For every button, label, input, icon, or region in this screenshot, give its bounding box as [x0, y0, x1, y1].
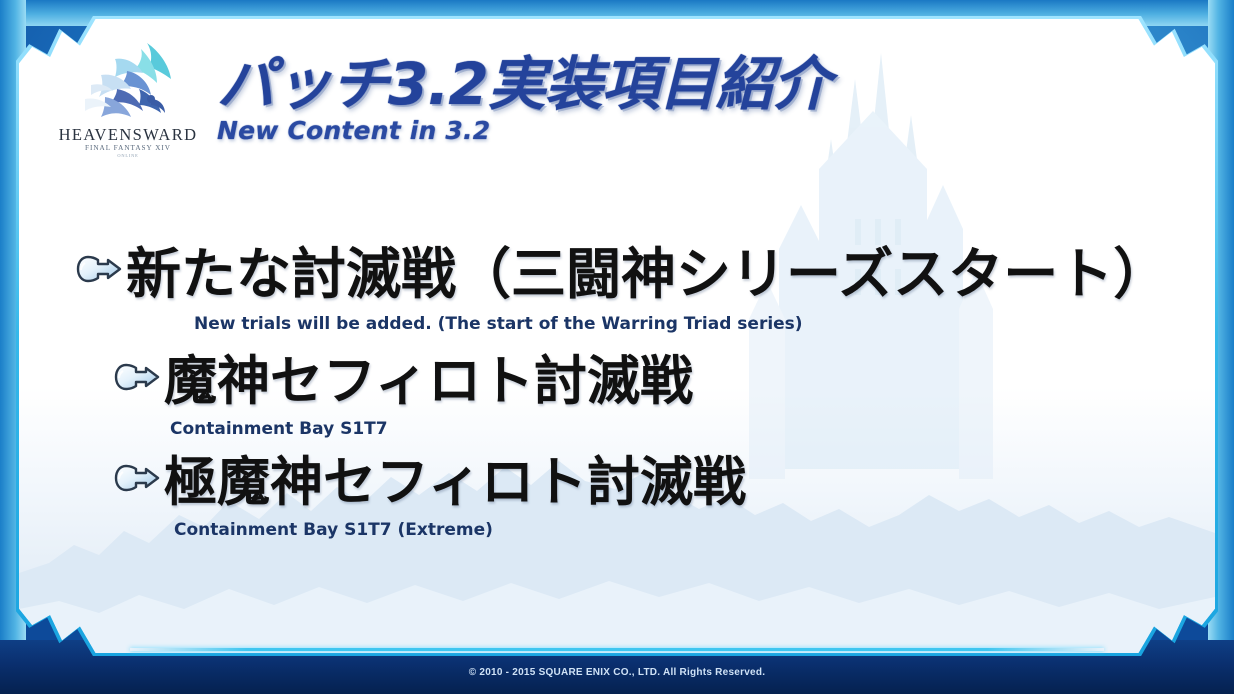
heavensward-logo: HEAVENSWARD FINAL FANTASY XIV ONLINE	[55, 41, 201, 163]
bullet-item: 魔神セフィロト討滅戦 Containment Bay S1T7	[112, 355, 693, 438]
page-title-block: パッチ3.2実装項目紹介 New Content in 3.2	[217, 55, 830, 145]
logo-subtitle-text: FINAL FANTASY XIV	[55, 144, 201, 152]
bullet-en-label: Containment Bay S1T7 (Extreme)	[174, 522, 746, 539]
pointing-hand-icon	[74, 247, 126, 296]
presentation-slide: HEAVENSWARD FINAL FANTASY XIV ONLINE パッチ…	[0, 0, 1234, 694]
bullet-en-label: New trials will be added. (The start of …	[194, 316, 1168, 333]
page-title: パッチ3.2実装項目紹介	[217, 55, 830, 114]
bullet-item: 極魔神セフィロト討滅戦 Containment Bay S1T7 (Extrem…	[112, 456, 746, 539]
logo-title-text: HEAVENSWARD	[55, 125, 201, 145]
logo-subtitle2-text: ONLINE	[55, 153, 201, 158]
bullet-en-label: Containment Bay S1T7	[170, 421, 693, 438]
bullet-jp-label: 魔神セフィロト討滅戦	[164, 355, 693, 408]
footer-bar: © 2010 - 2015 SQUARE ENIX CO., LTD. All …	[0, 650, 1234, 694]
bullet-item: 新たな討滅戦（三闘神シリーズスタート） New trials will be a…	[74, 247, 1168, 333]
bullet-jp-label: 極魔神セフィロト討滅戦	[164, 456, 746, 509]
copyright-text: © 2010 - 2015 SQUARE ENIX CO., LTD. All …	[469, 667, 765, 678]
bullet-text-group: 新たな討滅戦（三闘神シリーズスタート） New trials will be a…	[126, 247, 1168, 333]
bullet-text-group: 魔神セフィロト討滅戦 Containment Bay S1T7	[164, 355, 693, 438]
bullet-jp-label: 新たな討滅戦（三闘神シリーズスタート）	[126, 247, 1168, 302]
dragon-wing-emblem-icon	[55, 37, 201, 137]
page-subtitle: New Content in 3.2	[217, 116, 830, 145]
bullet-text-group: 極魔神セフィロト討滅戦 Containment Bay S1T7 (Extrem…	[164, 456, 746, 539]
pointing-hand-icon	[112, 456, 164, 505]
pointing-hand-icon	[112, 355, 164, 404]
slide-panel: HEAVENSWARD FINAL FANTASY XIV ONLINE パッチ…	[19, 19, 1215, 653]
